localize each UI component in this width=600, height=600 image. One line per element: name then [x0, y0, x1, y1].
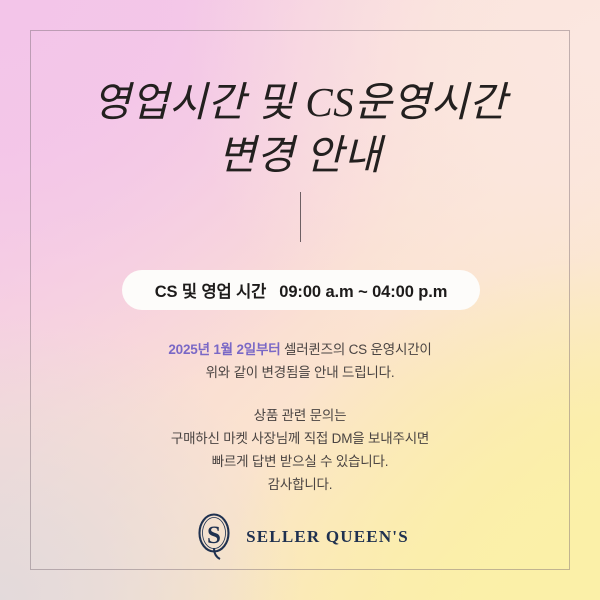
title-line-2: 변경 안내	[0, 129, 600, 182]
message-line-4: 감사합니다.	[0, 473, 600, 496]
title-line-1: 영업시간 및 CS운영시간	[0, 76, 600, 129]
hours-banner-text: CS 및 영업 시간09:00 a.m ~ 04:00 p.m	[155, 278, 448, 302]
brand-wordmark: SELLER QUEEN'S	[246, 527, 409, 547]
notice-block: 2025년 1월 2일부터 셀러퀸즈의 CS 운영시간이 위와 같이 변경됨을 …	[0, 338, 600, 384]
notice-line-1: 2025년 1월 2일부터 셀러퀸즈의 CS 운영시간이	[0, 338, 600, 361]
title-divider	[300, 192, 301, 242]
notice-line-2: 위와 같이 변경됨을 안내 드립니다.	[0, 361, 600, 384]
seller-queens-monogram-icon: S	[191, 512, 237, 562]
message-line-2: 구매하신 마켓 사장님께 직접 DM을 보내주시면	[0, 427, 600, 450]
notice-highlight-date: 2025년 1월 2일부터	[168, 342, 280, 357]
page-title: 영업시간 및 CS운영시간 변경 안내	[0, 76, 600, 182]
hours-banner-label: CS 및 영업 시간	[155, 283, 267, 301]
message-line-3: 빠르게 답변 받으실 수 있습니다.	[0, 450, 600, 473]
svg-text:S: S	[207, 522, 221, 549]
message-block: 상품 관련 문의는 구매하신 마켓 사장님께 직접 DM을 보내주시면 빠르게 …	[0, 404, 600, 496]
hours-banner: CS 및 영업 시간09:00 a.m ~ 04:00 p.m	[122, 270, 480, 310]
announcement-poster: 영업시간 및 CS운영시간 변경 안내 CS 및 영업 시간09:00 a.m …	[0, 0, 600, 600]
message-line-1: 상품 관련 문의는	[0, 404, 600, 427]
hours-banner-value: 09:00 a.m ~ 04:00 p.m	[279, 283, 447, 301]
brand-logo: S SELLER QUEEN'S	[0, 512, 600, 562]
notice-line-1-rest: 셀러퀸즈의 CS 운영시간이	[280, 342, 431, 357]
